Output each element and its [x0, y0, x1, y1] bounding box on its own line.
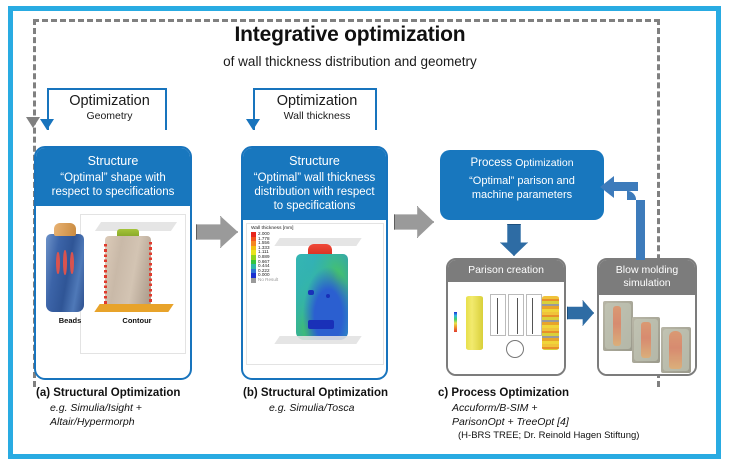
panel-a-body: Beads Contour	[36, 206, 190, 366]
caption-a-title: (a) Structural Optimization	[36, 386, 236, 401]
contour-dots-left	[104, 244, 107, 306]
bottle-blue-body	[46, 234, 84, 312]
mold-glass-1	[605, 303, 631, 349]
parison-chart-2	[508, 294, 524, 336]
bottle-label-beads: Beads	[48, 316, 92, 325]
bottle-label-contour: Contour	[110, 316, 164, 325]
panel-b-header: Structure “Optimal” wall thickness distr…	[243, 148, 386, 220]
parison-cylinder-optimized	[542, 296, 559, 350]
panel-b-subtitle-line1: “Optimal” wall thickness	[249, 171, 380, 185]
bead-rib-icon	[70, 252, 74, 274]
panel-b-title: Structure	[249, 153, 380, 169]
optimization-label-geometry: Optimization Geometry	[57, 92, 162, 122]
chart-curve	[517, 298, 518, 334]
fea-hotspot	[308, 290, 314, 295]
panel-b-subtitle-line2: distribution with respect	[249, 185, 380, 199]
caption-a-line2: Altair/Hypermorph	[36, 415, 236, 429]
parison-chart-3	[526, 294, 542, 336]
panel-parison-creation: Parison creation	[446, 258, 566, 376]
panel-structural-optimization-wall: Structure “Optimal” wall thickness distr…	[241, 146, 388, 380]
panel-blow-molding-simulation: Blow molding simulation	[597, 258, 697, 376]
optimization-label-wall: Optimization Wall thickness	[262, 92, 372, 122]
feedback-arrow-head-icon	[600, 176, 614, 198]
process-title-word: Process	[470, 157, 512, 169]
caption-b-title: (b) Structural Optimization	[243, 386, 433, 401]
blow-molding-body	[599, 295, 695, 376]
caption-c: c) Process Optimization Accuform/B-SIM +…	[438, 386, 698, 443]
wall-thickness-legend: Wall thickness [mm] 2.0001.7781.5561.333…	[251, 226, 293, 283]
parison-chart-1	[490, 294, 506, 336]
process-title-sub-word: Optimization	[515, 157, 573, 169]
parison-cylinder-uniform	[466, 296, 483, 350]
caption-b-line1: e.g. Simulia/Tosca	[243, 401, 433, 415]
parison-creation-title: Parison creation	[468, 264, 544, 276]
panel-a-title: Structure	[42, 153, 184, 169]
parison-creation-header: Parison creation	[448, 260, 564, 282]
caption-c-note: (H-BRS TREE; Dr. Reinold Hagen Stiftung)	[438, 429, 698, 443]
fea-hotspot	[308, 320, 334, 329]
title-block: Integrative optimization of wall thickne…	[50, 22, 650, 70]
caption-c-line1: Accuform/B-SIM +	[438, 401, 698, 415]
legend-swatch	[251, 278, 256, 283]
dashed-loop-arrowhead-icon	[26, 117, 40, 128]
bottle-tan-body	[105, 236, 151, 308]
chart-curve	[532, 298, 533, 334]
optimization-label-wall-sub: Wall thickness	[262, 111, 372, 122]
panel-b-body: Wall thickness [mm] 2.0001.7781.5561.333…	[243, 220, 386, 368]
parison-creation-body	[448, 282, 564, 376]
blow-molding-title-line2: simulation	[623, 277, 670, 289]
process-optimization-title: Process Optimization	[448, 156, 596, 171]
optimization-label-geometry-sub: Geometry	[57, 111, 162, 122]
legend-no-result-label: No Result	[258, 278, 278, 283]
page-subtitle: of wall thickness distribution and geome…	[50, 53, 650, 70]
panel-b-subtitle-line3: to specifications	[249, 199, 380, 213]
bead-rib-icon	[63, 250, 67, 275]
feedback-arrow-vertical	[636, 200, 645, 260]
mold-glass-2	[634, 319, 658, 361]
optimization-label-geometry-title: Optimization	[69, 93, 150, 109]
diagram-canvas: Integrative optimization of wall thickne…	[0, 0, 729, 466]
feedback-arrow-horizontal	[614, 182, 638, 191]
chart-curve	[497, 298, 498, 334]
caption-a-line1: e.g. Simulia/Isight +	[36, 401, 236, 415]
reference-plane-bottom	[94, 304, 173, 312]
fea-hotspot	[326, 294, 330, 298]
blow-molding-header: Blow molding simulation	[599, 260, 695, 295]
legend-row-no-result: No Result	[251, 278, 293, 283]
parison-colorbar	[454, 312, 457, 332]
optimization-loop-arrowhead-geometry-icon	[40, 119, 54, 130]
fea-bottle-body	[296, 254, 348, 340]
panel-a-subtitle-line2: respect to specifications	[42, 185, 184, 199]
parison-polar-plot	[506, 340, 524, 358]
caption-c-title: c) Process Optimization	[438, 386, 698, 401]
optimization-loop-arrowhead-wall-icon	[246, 119, 260, 130]
blow-molding-title-line1: Blow molding	[616, 264, 678, 276]
panel-a-subtitle-line1: “Optimal” shape with	[42, 171, 184, 185]
process-optimization-box: Process Optimization “Optimal” parison a…	[440, 150, 604, 220]
caption-b: (b) Structural Optimization e.g. Simulia…	[243, 386, 433, 415]
process-optimization-line1: “Optimal” parison and	[448, 174, 596, 188]
panel-structural-optimization-geometry: Structure “Optimal” shape with respect t…	[34, 146, 192, 380]
page-title: Integrative optimization	[50, 22, 650, 48]
contour-dots-right	[149, 242, 152, 306]
bottle-blue-cap	[54, 223, 76, 236]
fea-plane-bottom	[274, 336, 361, 344]
caption-c-line2: ParisonOpt + TreeOpt [4]	[438, 415, 698, 429]
process-optimization-line2: machine parameters	[448, 188, 596, 202]
optimization-label-wall-title: Optimization	[277, 93, 358, 109]
mold-glass-3	[663, 329, 689, 371]
panel-a-header: Structure “Optimal” shape with respect t…	[36, 148, 190, 206]
caption-a: (a) Structural Optimization e.g. Simulia…	[36, 386, 236, 429]
bead-rib-icon	[56, 252, 60, 274]
